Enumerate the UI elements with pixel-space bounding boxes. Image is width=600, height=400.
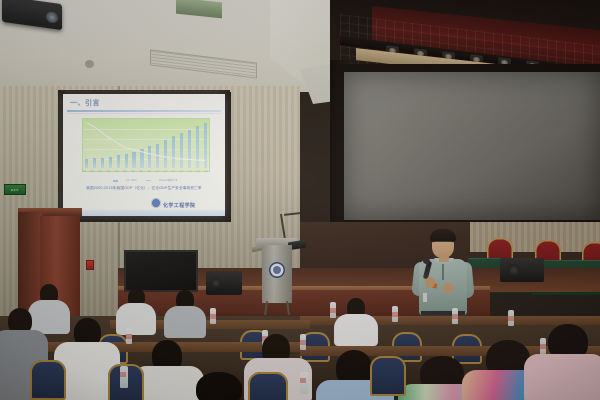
chart-x-tick: 2011 <box>172 171 176 177</box>
chart-x-tick: 2003 <box>106 171 110 177</box>
chart-x-tick: 2010 <box>163 171 167 177</box>
audience-chair <box>370 356 406 396</box>
chart-x-tick: 2006 <box>131 171 135 177</box>
audience-body <box>524 354 600 400</box>
chart-x-tick: 2000 <box>82 171 86 177</box>
chart-x-tick: 2001 <box>90 171 94 177</box>
water-bottle <box>330 302 336 318</box>
water-bottle <box>300 334 306 350</box>
water-bottle <box>210 308 216 324</box>
audience-chair <box>248 372 288 400</box>
audience-head <box>196 372 242 400</box>
fire-alarm-icon <box>86 260 94 270</box>
water-bottle <box>126 328 132 344</box>
presenter-badge <box>423 293 427 302</box>
slide-title-rule <box>67 110 221 112</box>
water-bottle <box>392 306 398 322</box>
university-logo-icon <box>151 198 161 208</box>
audience-body <box>334 314 378 346</box>
chart-x-tick: 2008 <box>147 171 151 177</box>
chart-x-axis-labels: 2000200120022003200420052006200720082009… <box>82 171 208 176</box>
legend-swatch-line <box>146 180 151 181</box>
presenter-right-hand <box>443 283 454 293</box>
pa-speaker <box>500 258 544 282</box>
slide-logo-text-zh: 化学工程学院 <box>163 203 195 209</box>
slide-footer-bar <box>63 210 225 216</box>
pa-speaker <box>206 271 242 295</box>
chart-x-tick: 2007 <box>139 171 143 177</box>
chart-x-tick: 2005 <box>123 171 127 177</box>
ceiling-speaker-icon <box>85 60 94 68</box>
chart-x-tick: 2009 <box>155 171 159 177</box>
presenter-left-hand <box>425 277 435 288</box>
main-projection-screen <box>344 72 600 220</box>
microphone-head-icon <box>423 258 430 264</box>
audience-body <box>164 306 206 338</box>
water-bottle <box>452 308 458 324</box>
chart-x-tick: 2012 <box>180 171 184 177</box>
chart-x-tick: 2015 <box>204 171 208 177</box>
chart-legend: GDP（亿元） 亿元GDP事故死亡率 <box>103 178 187 183</box>
chart-x-tick: 2014 <box>196 171 200 177</box>
projector-lens-icon <box>46 11 58 24</box>
legend-label-1: 亿元GDP事故死亡率 <box>159 179 177 182</box>
water-bottle <box>508 310 514 326</box>
presenter-placket <box>442 264 444 280</box>
presenter-belt <box>421 311 465 315</box>
conference-photo: 一、引言 20002001200220032004200520062007200… <box>0 0 600 400</box>
slide-title-rule-secondary <box>67 113 221 114</box>
exit-sign: EXIT <box>4 184 26 195</box>
slide-chart <box>82 118 210 172</box>
presenter-glasses-icon <box>433 241 453 246</box>
presentation-slide: 一、引言 20002001200220032004200520062007200… <box>63 94 225 216</box>
lectern-legs <box>262 301 292 315</box>
audience-body <box>116 303 156 335</box>
slide-title: 一、引言 <box>70 98 100 108</box>
water-bottle <box>540 338 546 354</box>
audience-body <box>28 300 70 334</box>
exit-sign-label: EXIT <box>11 188 19 192</box>
slide-caption: 我国2000-2015年我国GDP（亿元）、亿元GDP生产安全事故死亡率 <box>71 186 217 191</box>
legend-swatch-bar <box>113 180 118 182</box>
legend-label-0: GDP（亿元） <box>126 179 138 182</box>
water-bottle <box>120 366 128 388</box>
chart-x-tick: 2013 <box>188 171 192 177</box>
chart-x-tick: 2002 <box>98 171 102 177</box>
chart-decline-line <box>83 119 209 171</box>
chart-x-tick: 2004 <box>115 171 119 177</box>
lectern-emblem-icon <box>269 262 285 278</box>
wall-monitor <box>124 250 198 292</box>
water-bottle <box>300 372 308 394</box>
audience-chair <box>30 360 66 400</box>
